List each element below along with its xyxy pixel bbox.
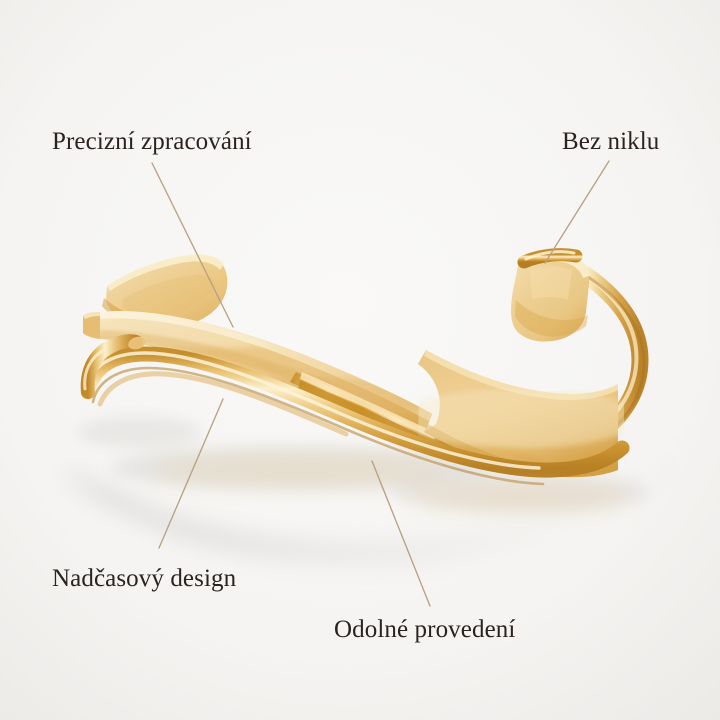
bracelet-product-photo <box>0 0 720 720</box>
annotation-label-nickel-free: Bez niklu <box>562 129 659 154</box>
product-image-canvas: Precizní zpracování Bez niklu Nadčasový … <box>0 0 720 720</box>
annotation-label-durable: Odolné provedení <box>334 617 515 642</box>
annotation-label-timeless: Nadčasový design <box>52 566 236 591</box>
bracelet-wire-right-tip <box>524 252 576 262</box>
annotation-label-precision: Precizní zpracování <box>52 129 252 154</box>
